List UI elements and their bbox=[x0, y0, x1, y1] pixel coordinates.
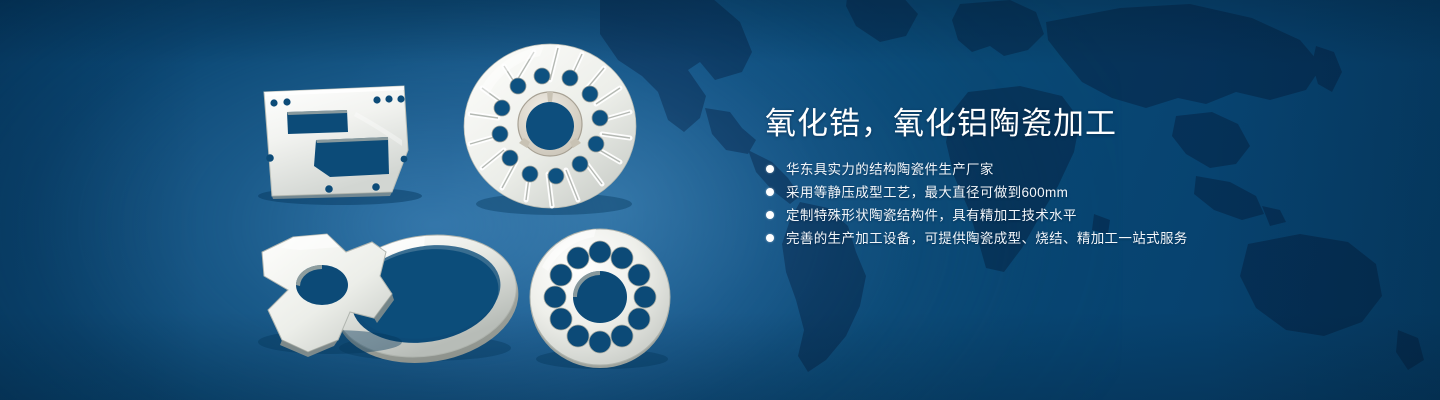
ceramic-plate bbox=[258, 86, 422, 205]
ceramic-parts-collage bbox=[0, 0, 740, 400]
feature-item-4-label: 完善的生产加工设备，可提供陶瓷成型、烧结、精加工一站式服务 bbox=[786, 231, 1188, 246]
bullet-dot-icon bbox=[766, 234, 774, 242]
feature-item-3: 定制特殊形状陶瓷结构件，具有精加工技术水平 bbox=[765, 208, 1325, 223]
bullet-dot-icon bbox=[766, 165, 774, 173]
ceramic-perforated-disc bbox=[530, 229, 670, 369]
banner-copy: 氧化锆，氧化铝陶瓷加工 华东具实力的结构陶瓷件生产厂家 采用等静压成型工艺，最大… bbox=[765, 104, 1325, 246]
feature-item-1: 华东具实力的结构陶瓷件生产厂家 bbox=[765, 162, 1325, 177]
ceramic-impeller bbox=[464, 44, 636, 215]
promo-banner: 氧化锆，氧化铝陶瓷加工 华东具实力的结构陶瓷件生产厂家 采用等静压成型工艺，最大… bbox=[0, 0, 1440, 400]
banner-headline: 氧化锆，氧化铝陶瓷加工 bbox=[765, 104, 1325, 144]
bullet-dot-icon bbox=[766, 188, 774, 196]
feature-item-3-label: 定制特殊形状陶瓷结构件，具有精加工技术水平 bbox=[786, 208, 1077, 223]
ceramic-cross-part bbox=[258, 234, 402, 357]
feature-item-2-label: 采用等静压成型工艺，最大直径可做到600mm bbox=[786, 185, 1068, 200]
feature-item-2: 采用等静压成型工艺，最大直径可做到600mm bbox=[765, 185, 1325, 200]
feature-item-1-label: 华东具实力的结构陶瓷件生产厂家 bbox=[786, 162, 994, 177]
banner-feature-list: 华东具实力的结构陶瓷件生产厂家 采用等静压成型工艺，最大直径可做到600mm 定… bbox=[765, 162, 1325, 246]
bullet-dot-icon bbox=[766, 211, 774, 219]
feature-item-4: 完善的生产加工设备，可提供陶瓷成型、烧结、精加工一站式服务 bbox=[765, 231, 1325, 246]
